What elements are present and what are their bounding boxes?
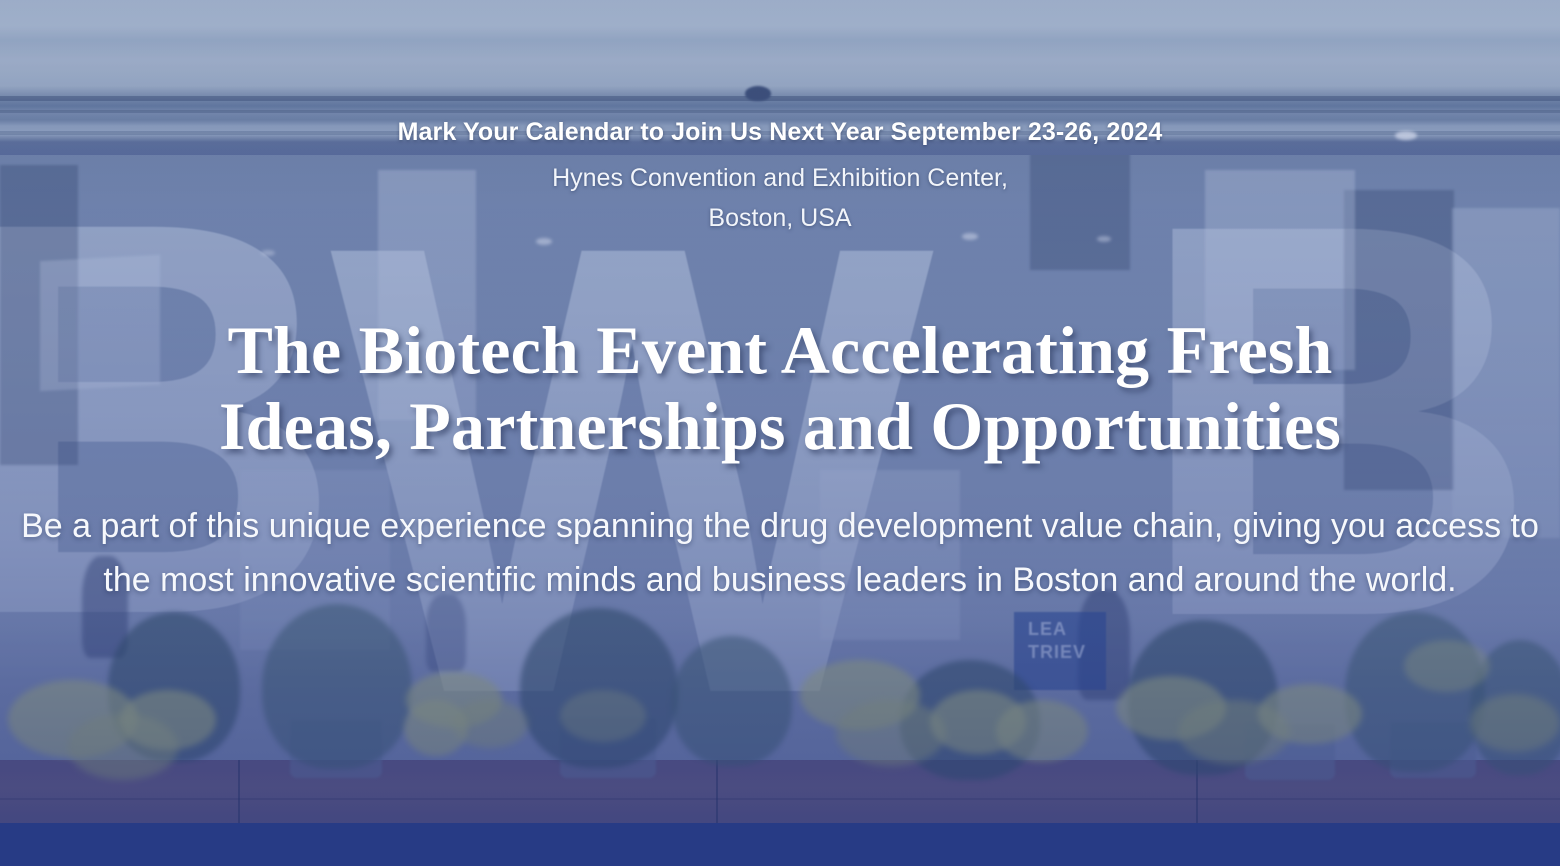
- event-date-kicker: Mark Your Calendar to Join Us Next Year …: [0, 118, 1560, 147]
- bottom-accent-bar: [0, 823, 1560, 866]
- venue-line-1: Hynes Convention and Exhibition Center,: [0, 159, 1560, 199]
- hero-description: Be a part of this unique experience span…: [0, 500, 1560, 607]
- event-venue: Hynes Convention and Exhibition Center, …: [0, 159, 1560, 238]
- headline-line-1: The Biotech Event Accelerating Fresh: [40, 312, 1520, 388]
- headline-line-2: Ideas, Partnerships and Opportunities: [40, 388, 1520, 464]
- event-hero-banner: B W B LEA TRIEV: [0, 0, 1560, 866]
- hero-headline: The Biotech Event Accelerating Fresh Ide…: [0, 312, 1560, 464]
- hero-content: Mark Your Calendar to Join Us Next Year …: [0, 0, 1560, 866]
- venue-line-2: Boston, USA: [0, 199, 1560, 239]
